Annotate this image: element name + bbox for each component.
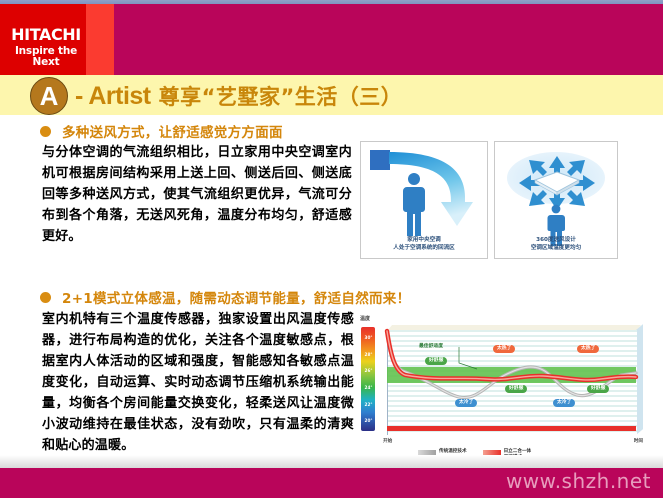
person-silhouette-icon xyxy=(401,172,427,240)
temperature-tick: 26° xyxy=(362,368,375,373)
temperature-tick: 28° xyxy=(362,352,375,357)
annotation-bubble-cold: 太冷了 xyxy=(553,399,575,407)
temperature-tick: 20° xyxy=(362,418,375,423)
chart-origin-label: 开始 xyxy=(383,438,392,444)
chart-plot-area: 最佳舒适度 好舒服 太热了 太热了 太冷了 太冷了 好舒服 好舒服 开始 时间 xyxy=(381,325,643,443)
annotation-bubble-ok: 好舒服 xyxy=(425,357,447,365)
temperature-comfort-chart: 温度 30°28°26°24°22°20° 最佳舒适度 好舒服 太热了 太热了 xyxy=(358,315,648,463)
section-1-bullet-label: 多种送风方式，让舒适感觉方方面面 xyxy=(62,121,283,141)
bullet-dot-icon xyxy=(40,126,51,137)
chart-xlabel: 时间 xyxy=(634,438,643,444)
section-2-heading: 2+1模式立体感温，随需动态调节能量，舒适自然而来！ xyxy=(40,287,410,307)
figure-360-degree-airflow: 360度送风设计 空调区域温度更均匀 xyxy=(494,141,618,259)
brand-banner: HITACHI Inspire the Next xyxy=(0,4,663,75)
hitachi-logo: HITACHI Inspire the Next xyxy=(3,27,89,67)
footer-fade xyxy=(0,455,663,468)
figure-1-caption-line2: 人处于空调系统的回流区 xyxy=(361,244,487,252)
temperature-tick: 22° xyxy=(362,402,375,407)
airflow-curve-arrow-icon xyxy=(383,146,483,246)
annotation-bubble-ok: 好舒服 xyxy=(505,385,527,393)
page-title-cjk: 尊享“艺墅家”生活（三） xyxy=(159,81,403,111)
brand-name: HITACHI xyxy=(3,27,89,43)
slide-title: A - Artist 尊享“艺墅家”生活（三） xyxy=(30,76,402,116)
figure-2-caption-line1: 360度送风设计 xyxy=(495,236,617,244)
temperature-scale-ticks: 30°28°26°24°22°20° xyxy=(362,329,375,429)
section-2-bullet-label: 2+1模式立体感温，随需动态调节能量，舒适自然而来！ xyxy=(62,287,410,307)
bullet-dot-icon xyxy=(40,292,51,303)
annotation-bubble-cold: 太冷了 xyxy=(455,399,477,407)
figure-1-caption-line1: 家用中央空调 xyxy=(361,236,487,244)
logo-accent-bar xyxy=(86,4,114,75)
artist-badge-icon: A xyxy=(30,77,68,115)
annotation-bubble-hot: 太热了 xyxy=(493,345,515,353)
figure-2-caption: 360度送风设计 空调区域温度更均匀 xyxy=(495,236,617,252)
figure-2-caption-line2: 空调区域温度更均匀 xyxy=(495,244,617,252)
figure-home-central-ac-airflow: 家用中央空调 人处于空调系统的回流区 xyxy=(360,141,488,259)
site-watermark: www.shzh.net xyxy=(506,469,651,493)
chart-ylabel: 温度 xyxy=(360,315,370,322)
figure-1-caption: 家用中央空调 人处于空调系统的回流区 xyxy=(361,236,487,252)
plot-floor xyxy=(387,426,636,431)
section-2-body: 室内机特有三个温度传感器，独家设置出风温度传感器，进行布局构造的优化，关注各个温… xyxy=(42,309,354,456)
slide-content: 多种送风方式，让舒适感觉方方面面 与分体空调的气流组织相比，日立家用中央空调室内… xyxy=(0,115,663,465)
section-1-body: 与分体空调的气流组织相比，日立家用中央空调室内机可根据房间结构采用上送上回、侧送… xyxy=(42,142,352,247)
temperature-tick: 30° xyxy=(362,335,375,340)
brand-tagline: Inspire the Next xyxy=(3,46,89,67)
temperature-tick: 24° xyxy=(362,385,375,390)
annotation-bubble-hot: 太热了 xyxy=(577,345,599,353)
comfort-band-annotation: 最佳舒适度 xyxy=(419,342,443,349)
page-title-latin: - Artist xyxy=(75,82,151,111)
section-1-heading: 多种送风方式，让舒适感觉方方面面 xyxy=(40,121,283,141)
annotation-bubble-ok: 好舒服 xyxy=(587,385,609,393)
